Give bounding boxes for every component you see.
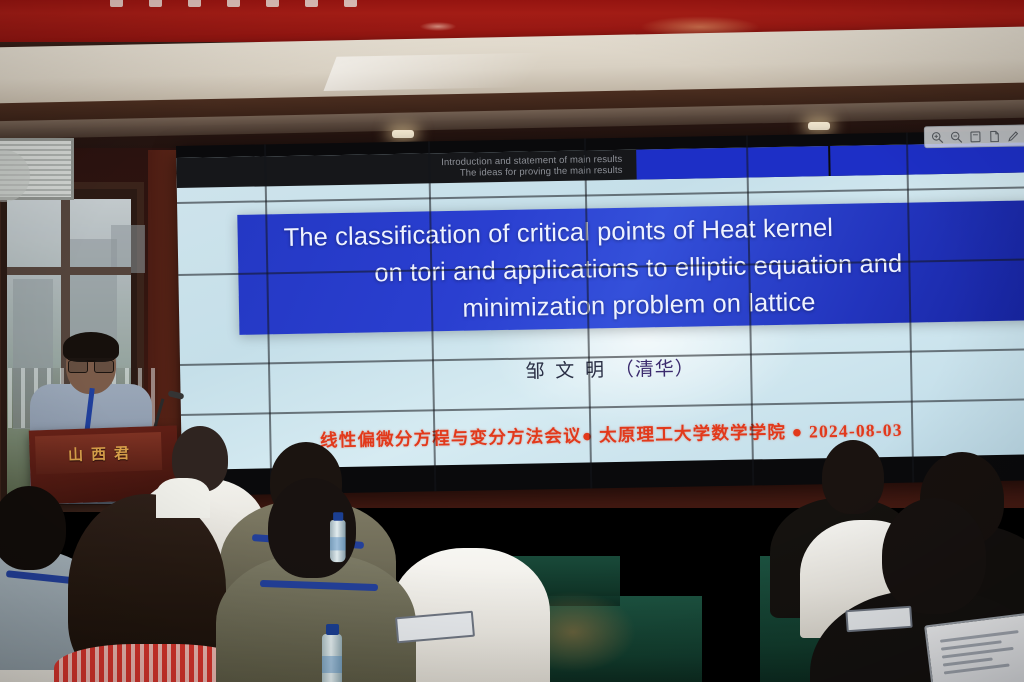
zoom-in-icon[interactable] [931,130,944,143]
audience-head [156,478,210,518]
speaker-glasses [68,358,114,369]
conference-room-photo: Introduction and statement of main resul… [0,0,1024,682]
bottle-cap [326,624,339,635]
pdf-viewer-toolbar[interactable] [924,124,1024,148]
presentation-slide: Introduction and statement of main resul… [176,142,1024,470]
bottle-label [330,537,346,550]
slide-header-bar: Introduction and statement of main resul… [176,142,1024,188]
audience-head [0,486,66,570]
audience-head [822,440,884,514]
podium-char-1: 山 [68,443,84,465]
slide-title-box: The classification of critical points of… [237,200,1024,335]
banner-sparkle [420,22,456,31]
building-silhouette [111,225,145,273]
audience-head [882,498,986,614]
podium-nameplate: 山 西 君 [35,432,162,474]
downlight [392,130,414,138]
author-name: 邹 文 明 [525,360,607,382]
bottle-label [322,656,342,673]
author-institution: （清华） [615,359,695,381]
fit-page-icon[interactable] [969,130,982,143]
ceiling-reflection [324,51,627,91]
pen-icon[interactable] [1007,129,1020,142]
nav-line-2: The ideas for proving the main results [460,165,623,179]
bottle-cap [333,512,343,521]
downlight [808,122,830,130]
page-icon[interactable] [988,129,1001,142]
zoom-out-icon[interactable] [950,130,963,143]
slide-nav-sections: Introduction and statement of main resul… [176,150,636,188]
podium-char-3: 君 [114,442,130,464]
podium-char-2: 西 [91,442,107,464]
tablet-device[interactable] [845,606,912,633]
slide-author-line: 邹 文 明 （清华） [180,347,1024,390]
banner-text-remnant [110,0,440,9]
laptop-screen-content [940,629,1024,675]
